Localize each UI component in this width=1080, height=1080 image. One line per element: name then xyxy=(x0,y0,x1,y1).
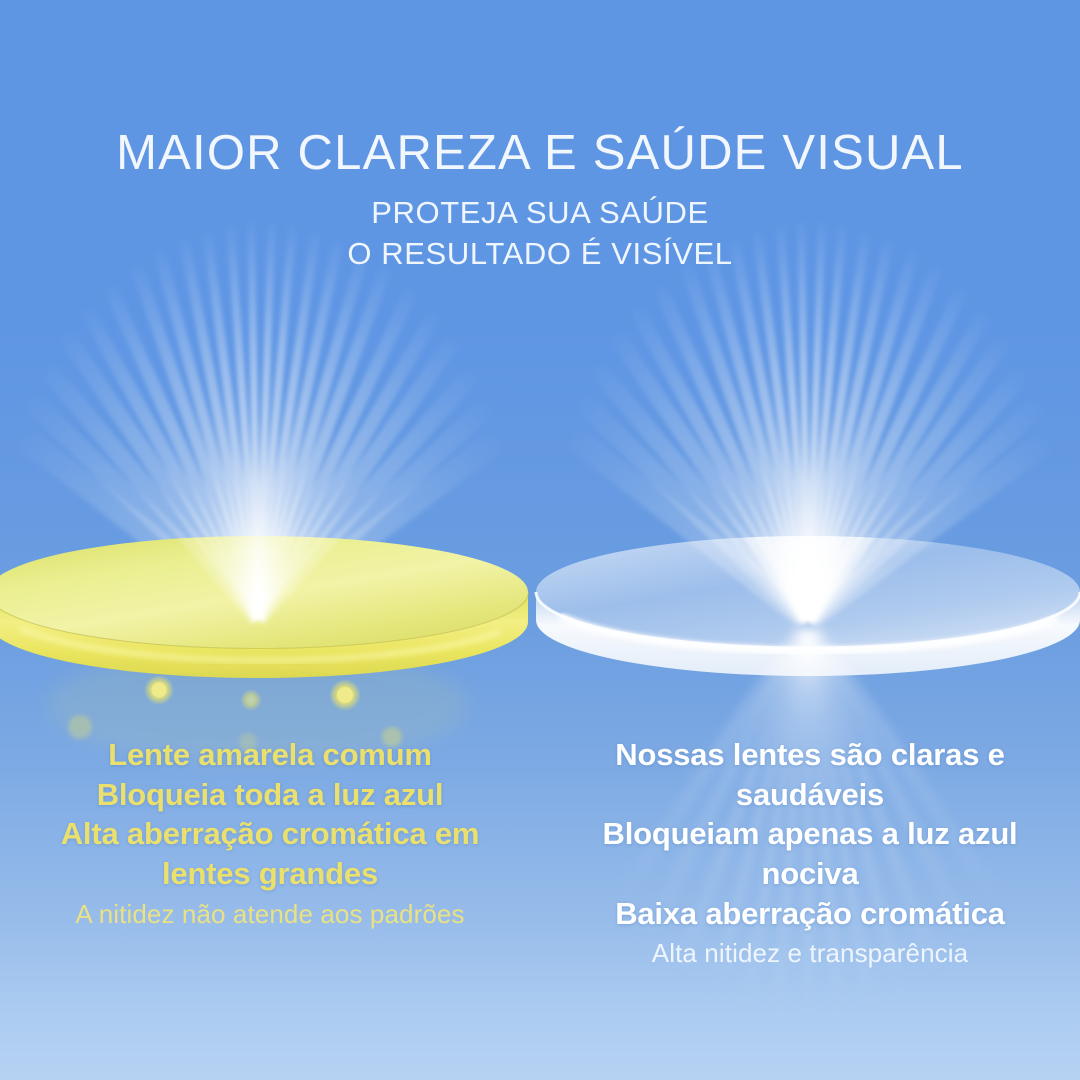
clear-caption-footnote: Alta nitidez e transparência xyxy=(556,937,1064,971)
comparison-captions: Lente amarela comum Bloqueia toda a luz … xyxy=(0,735,1080,1025)
yellow-caption-line-3: Alta aberração cromática em xyxy=(22,814,518,854)
clear-caption-line-4: nociva xyxy=(556,854,1064,894)
promo-graphic: MAIOR CLAREZA E SAÚDE VISUAL PROTEJA SUA… xyxy=(0,0,1080,1080)
clear-lens-caption-column: Nossas lentes são claras e saudáveis Blo… xyxy=(540,735,1080,1025)
yellow-caption-line-1: Lente amarela comum xyxy=(22,735,518,775)
yellow-lens-caption-column: Lente amarela comum Bloqueia toda a luz … xyxy=(0,735,540,1025)
clear-caption-line-5: Baixa aberração cromática xyxy=(556,894,1064,934)
yellow-caption-line-4: lentes grandes xyxy=(22,854,518,894)
yellow-caption-footnote: A nitidez não atende aos padrões xyxy=(22,898,518,932)
clear-caption-line-2: saudáveis xyxy=(556,775,1064,815)
clear-caption-line-1: Nossas lentes são claras e xyxy=(556,735,1064,775)
clear-caption-line-3: Bloqueiam apenas a luz azul xyxy=(556,814,1064,854)
yellow-caption-line-2: Bloqueia toda a luz azul xyxy=(22,775,518,815)
